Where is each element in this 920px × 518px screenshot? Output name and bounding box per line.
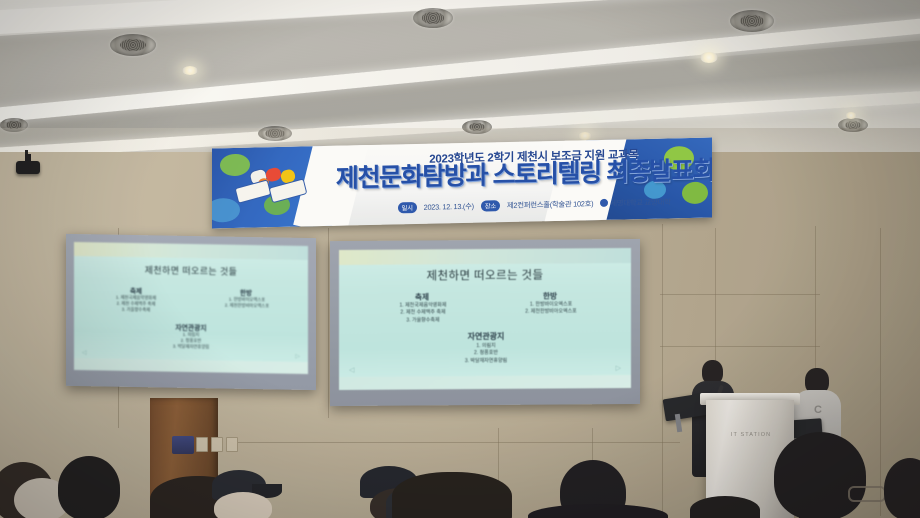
audience-head: [58, 456, 120, 518]
slide-title: 제천하면 떠오르는 것들: [74, 262, 308, 279]
door-exit-sign: [172, 436, 194, 454]
wall-seam: [230, 442, 680, 443]
slide-item: 3. 박달재자연휴양림: [140, 344, 242, 352]
university-mark-icon: [600, 199, 608, 207]
projection-screen-left: 제천하면 떠오르는 것들 축제 1. 제천국제음악영화제 2. 제천 수제맥주 …: [66, 234, 316, 390]
wall-seam: [328, 228, 329, 418]
wall-seam: [880, 228, 881, 516]
slide-item: 3. 가을향수축제: [367, 317, 479, 325]
wall-switch[interactable]: [196, 437, 208, 452]
slide-left: 제천하면 떠오르는 것들 축제 1. 제천국제음악영화제 2. 제천 수제맥주 …: [74, 242, 308, 374]
slide-section-items-nature: 1. 의림지 2. 청풍호반 3. 박달재자연휴양림: [431, 343, 541, 366]
slide-next-arrow-icon[interactable]: ▷: [295, 353, 300, 360]
banner-host-group: 세명대학교 교양대학: [600, 196, 670, 209]
hoodie-letter-c: C: [814, 404, 822, 416]
ceiling-camera-icon: [16, 161, 40, 174]
audience-head: [392, 472, 512, 518]
audience-head: [214, 492, 272, 518]
wall-seam: [660, 346, 820, 347]
slide-section-items-festival: 1. 제천국제음악영화제 2. 제천 수제맥주 축제 3. 가을향수축제: [88, 294, 184, 314]
projection-screen-right: 제천하면 떠오르는 것들 축제 1. 제천국제음악영화제 2. 제천 수제맥주 …: [330, 239, 640, 406]
ceiling-vent-icon: [730, 10, 774, 32]
wall-switch-panel[interactable]: [196, 437, 238, 452]
slide-item: 3. 박달재자연휴양림: [431, 357, 541, 365]
slide-section-items-hanbang: 1. 한방바이오엑스포 2. 제천한방비아오엑스포: [495, 301, 607, 316]
audience-head: [774, 432, 866, 518]
slide-item: 3. 가을향수축제: [88, 307, 184, 315]
slide-footer-band: [339, 375, 631, 390]
banner-date-value: 2023. 12. 13.(수): [424, 201, 474, 213]
slide-title: 제천하면 떠오르는 것들: [339, 266, 631, 284]
slide-section-items-festival: 1. 제천국제음악영화제 2. 제천 수제맥주 축제 3. 가을향수축제: [367, 302, 479, 325]
ceiling-spotlight: [845, 112, 857, 119]
slide-section-heading-nature: 자연관광지: [437, 331, 535, 343]
slide-section-items-hanbang: 1. 한방바이오엑스포 2. 제천한방비아오엑스포: [198, 296, 296, 310]
slide-right: 제천하면 떠오르는 것들 축제 1. 제천국제음악영화제 2. 제천 수제맥주 …: [339, 248, 631, 390]
wall-seam: [662, 224, 663, 518]
slide-footer-band: [74, 358, 308, 374]
banner-host: 세명대학교 교양대학: [610, 197, 670, 207]
audience-eyeglasses-icon: [848, 486, 886, 502]
slide-prev-arrow-icon[interactable]: ◁: [82, 349, 87, 356]
slide-section-heading-festival: 축제: [377, 291, 467, 303]
ceiling-spotlight: [182, 66, 198, 75]
ceiling-spotlight: [700, 52, 718, 63]
slide-header-band: [74, 242, 308, 260]
banner-place-label: 장소: [481, 200, 500, 211]
banner-place-value: 제2컨퍼런스홀(학술관 102호): [507, 198, 593, 211]
banner-date-label: 일시: [398, 202, 417, 213]
photo-scene: 2023학년도 2학기 제천시 보조금 지원 교과목 제천문화탐방과 스토리텔링…: [0, 0, 920, 518]
slide-header-band: [339, 248, 631, 265]
slide-item: 2. 제천한방비아오엑스포: [495, 308, 607, 316]
slide-section-heading-hanbang: 한방: [505, 290, 595, 302]
audience-head: [690, 496, 760, 518]
podium-brand-label: IT STATION: [718, 432, 784, 438]
event-logo-icon: [236, 168, 310, 206]
ceiling-vent-icon: [110, 34, 156, 56]
wall-seam: [660, 294, 820, 295]
slide-prev-arrow-icon[interactable]: ◁: [349, 366, 354, 374]
event-banner: 2023학년도 2학기 제천시 보조금 지원 교과목 제천문화탐방과 스토리텔링…: [212, 138, 712, 229]
slide-section-items-nature: 1. 의림지 2. 청풍호반 3. 박달재자연휴양림: [140, 331, 242, 351]
wall-switch[interactable]: [226, 437, 238, 452]
ceiling-vent-icon: [413, 8, 453, 28]
slide-item: 2. 제천한방비아오엑스포: [198, 302, 296, 310]
wall-switch[interactable]: [211, 437, 223, 452]
slide-next-arrow-icon[interactable]: ▷: [616, 364, 621, 372]
